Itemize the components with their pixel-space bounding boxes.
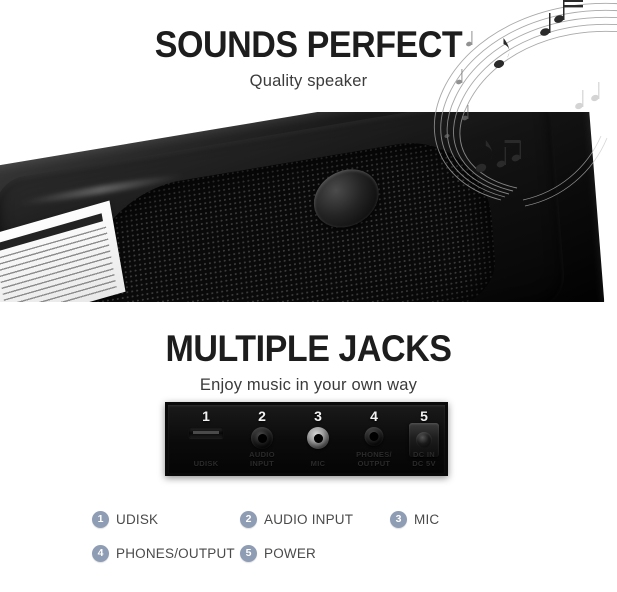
audio-jack-icon <box>251 427 273 449</box>
legend-row: 1 UDISK 2 AUDIO INPUT 3 MIC <box>92 502 532 536</box>
jack-caption: DC INDC 5V <box>390 450 448 468</box>
legend-item-audio-input: 2 AUDIO INPUT <box>240 511 390 528</box>
speaker-product-photo <box>0 112 617 302</box>
sounds-perfect-subhead: Quality speaker <box>0 72 617 91</box>
jack-power: 5 DC INDC 5V <box>396 405 448 473</box>
legend-label: UDISK <box>116 512 158 527</box>
legend-badge: 3 <box>390 511 407 528</box>
legend-item-power: 5 POWER <box>240 545 316 562</box>
jack-number: 1 <box>178 408 234 424</box>
legend-item-phones-output: 4 PHONES/OUTPUT <box>92 545 240 562</box>
section-multiple-jacks: MULTIPLE JACKS Enjoy music in your own w… <box>0 302 617 592</box>
jack-number: 4 <box>346 408 402 424</box>
legend-label: AUDIO INPUT <box>264 512 353 527</box>
jack-number: 5 <box>396 408 448 424</box>
legend-item-mic: 3 MIC <box>390 511 439 528</box>
section-sounds-perfect: SOUNDS PERFECT Quality speaker <box>0 0 617 302</box>
legend-label: MIC <box>414 512 439 527</box>
headphone-jack-icon <box>365 427 384 446</box>
usb-port-icon <box>189 427 223 438</box>
sounds-perfect-heading-block: SOUNDS PERFECT Quality speaker <box>0 26 617 91</box>
multiple-jacks-heading-block: MULTIPLE JACKS Enjoy music in your own w… <box>0 330 617 395</box>
jack-legend: 1 UDISK 2 AUDIO INPUT 3 MIC 4 PHONES/OUT… <box>92 502 532 570</box>
speaker-grille-mesh <box>74 130 498 302</box>
jack-number: 2 <box>234 408 290 424</box>
legend-item-udisk: 1 UDISK <box>92 511 240 528</box>
jack-number: 3 <box>290 408 346 424</box>
legend-label: POWER <box>264 546 316 561</box>
mic-jack-icon <box>307 427 329 449</box>
jack-udisk: 1 UDISK <box>178 405 234 473</box>
legend-badge: 4 <box>92 545 109 562</box>
jack-audio-input: 2 AUDIOINPUT <box>234 405 290 473</box>
product-feature-page: SOUNDS PERFECT Quality speaker <box>0 0 617 592</box>
sounds-perfect-headline: SOUNDS PERFECT <box>25 26 593 65</box>
legend-badge: 5 <box>240 545 257 562</box>
legend-badge: 1 <box>92 511 109 528</box>
jack-panel-photo: 1 UDISK 2 AUDIOINPUT 3 MIC 4 PHONES/OUTP… <box>165 402 448 476</box>
legend-badge: 2 <box>240 511 257 528</box>
multiple-jacks-subhead: Enjoy music in your own way <box>0 376 617 395</box>
legend-row: 4 PHONES/OUTPUT 5 POWER <box>92 536 532 570</box>
legend-label: PHONES/OUTPUT <box>116 546 235 561</box>
multiple-jacks-headline: MULTIPLE JACKS <box>25 330 593 369</box>
jack-mic: 3 MIC <box>290 405 346 473</box>
